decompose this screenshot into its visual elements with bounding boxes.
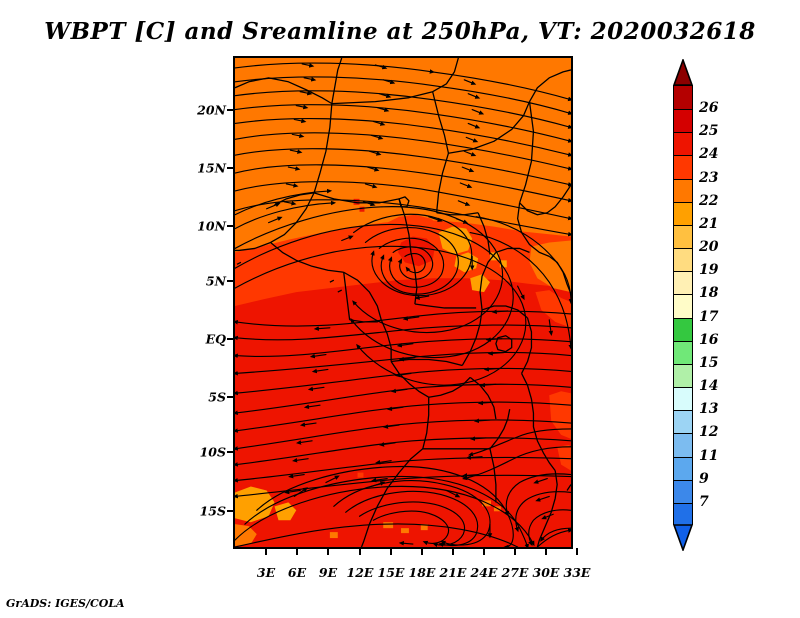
colorbar-tick-label: 7	[699, 494, 709, 510]
x-tick-label: 21E	[440, 565, 467, 580]
colorbar-tick-label: 11	[699, 448, 718, 464]
colorbar-tick-label: 26	[699, 100, 718, 116]
colorbar-swatch	[674, 341, 692, 364]
colorbar-swatch	[674, 364, 692, 387]
y-tick-label: 5S	[178, 390, 226, 405]
y-tick-label: 20N	[178, 103, 226, 118]
x-tick-mark	[483, 548, 485, 555]
x-tick-label: 3E	[257, 565, 275, 580]
y-tick-mark	[227, 280, 234, 282]
colorbar-tick-label: 20	[699, 239, 718, 255]
colorbar-tick-label: 13	[699, 401, 718, 417]
colorbar-swatch	[674, 294, 692, 317]
colorbar-tick-label: 22	[699, 193, 718, 209]
colorbar-swatch	[674, 109, 692, 132]
colorbar-tick-label: 17	[699, 309, 718, 325]
colorbar-tick-label: 21	[699, 216, 718, 232]
colorbar-swatch	[674, 410, 692, 433]
x-tick-mark	[265, 548, 267, 555]
x-tick-label: 18E	[409, 565, 436, 580]
colorbar-tick-label: 19	[699, 262, 718, 278]
y-tick-mark	[227, 396, 234, 398]
colorbar-swatch	[674, 202, 692, 225]
colorbar-swatch	[674, 225, 692, 248]
x-tick-mark	[576, 548, 578, 555]
y-tick-mark	[227, 225, 234, 227]
plot-inner	[235, 58, 571, 547]
colorbar-max-extend-arrow	[673, 59, 693, 86]
colorbar-tick-label: 16	[699, 332, 718, 348]
x-tick-mark	[390, 548, 392, 555]
colorbar-legend[interactable]: 2625242322212019181716151413121197	[673, 59, 693, 551]
colorbar-swatch	[674, 132, 692, 155]
colorbar-cells	[673, 85, 693, 525]
coastline-and-border-overlay	[235, 58, 571, 547]
y-tick-mark	[227, 451, 234, 453]
colorbar-swatch	[674, 248, 692, 271]
x-tick-label: 24E	[471, 565, 498, 580]
colorbar-tick-label: 18	[699, 285, 718, 301]
x-tick-mark	[296, 548, 298, 555]
x-tick-label: 9E	[319, 565, 337, 580]
footer-credit: GrADS: IGES/COLA	[6, 597, 125, 610]
x-tick-mark	[514, 548, 516, 555]
y-tick-label: 10N	[178, 219, 226, 234]
y-tick-label: 5N	[178, 274, 226, 289]
x-tick-mark	[327, 548, 329, 555]
y-tick-label: EQ	[178, 332, 226, 347]
x-tick-label: 33E	[564, 565, 591, 580]
x-tick-mark	[545, 548, 547, 555]
x-tick-label: 30E	[533, 565, 560, 580]
y-tick-label: 15S	[178, 504, 226, 519]
colorbar-swatch	[674, 433, 692, 456]
colorbar-swatch	[674, 457, 692, 480]
x-tick-mark	[359, 548, 361, 555]
x-tick-label: 6E	[288, 565, 306, 580]
x-tick-mark	[452, 548, 454, 555]
colorbar-tick-label: 23	[699, 170, 718, 186]
colorbar-tick-label: 25	[699, 123, 718, 139]
page-title: WBPT [C] and Sreamline at 250hPa, VT: 20…	[0, 18, 800, 45]
colorbar-tick-label: 9	[699, 471, 709, 487]
map-plot-area[interactable]	[233, 56, 573, 549]
x-tick-mark	[421, 548, 423, 555]
colorbar-swatch	[674, 271, 692, 294]
y-tick-mark	[227, 510, 234, 512]
x-tick-label: 27E	[502, 565, 529, 580]
x-tick-label: 12E	[347, 565, 374, 580]
colorbar-min-extend-arrow	[673, 524, 693, 551]
colorbar-swatch	[674, 480, 692, 503]
colorbar-swatch	[674, 503, 692, 526]
colorbar-tick-label: 14	[699, 378, 718, 394]
colorbar-tick-label: 15	[699, 355, 718, 371]
y-tick-mark	[227, 338, 234, 340]
colorbar-swatch	[674, 155, 692, 178]
colorbar-swatch	[674, 387, 692, 410]
y-tick-label: 10S	[178, 445, 226, 460]
colorbar-tick-label: 24	[699, 146, 718, 162]
x-tick-label: 15E	[378, 565, 405, 580]
colorbar-tick-label: 12	[699, 424, 718, 440]
colorbar-swatch	[674, 318, 692, 341]
y-tick-label: 15N	[178, 161, 226, 176]
colorbar-swatch	[674, 179, 692, 202]
colorbar-swatch	[674, 86, 692, 109]
y-tick-mark	[227, 109, 234, 111]
y-tick-mark	[227, 167, 234, 169]
